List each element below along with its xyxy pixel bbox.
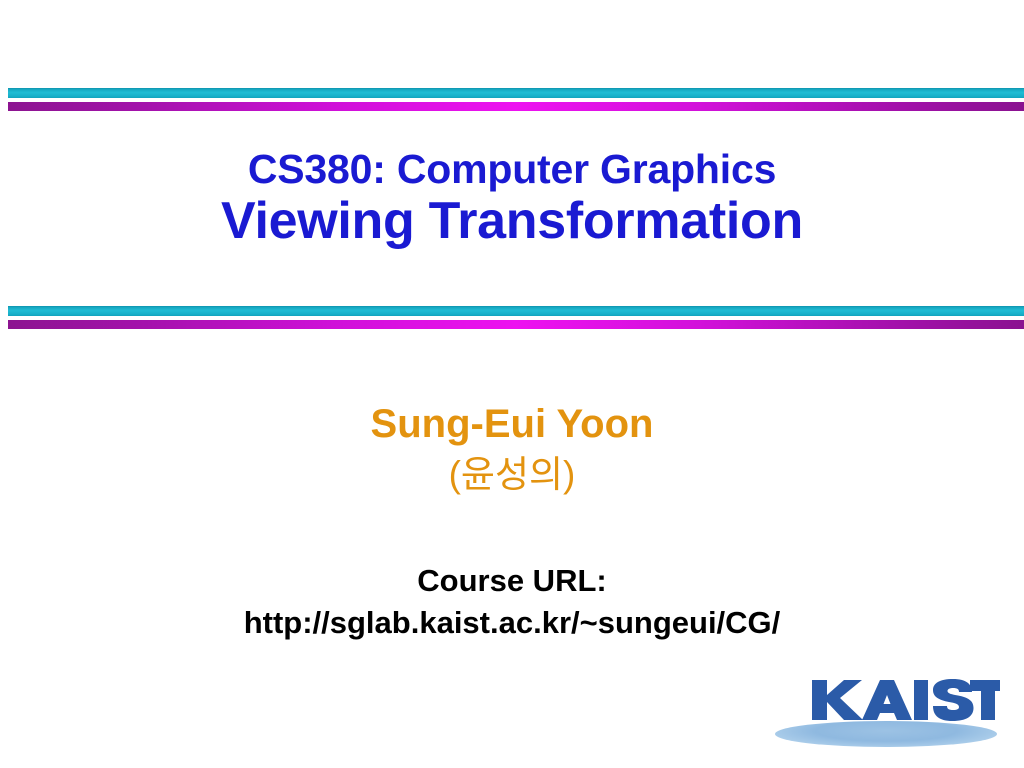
divider-middle [8,306,1024,329]
course-url-value[interactable]: http://sglab.kaist.ac.kr/~sungeui/CG/ [0,605,1024,641]
kaist-logo-ellipse [775,721,997,747]
divider-magenta-bar [8,320,1024,329]
author-block: Sung-Eui Yoon (윤성의) [0,402,1024,496]
divider-cyan-bar [8,306,1024,316]
divider-magenta-bar [8,102,1024,111]
page-title-topic: Viewing Transformation [0,193,1024,250]
page-title-course: CS380: Computer Graphics [0,148,1024,191]
author-name: Sung-Eui Yoon [0,402,1024,447]
kaist-wordmark-icon [770,668,1000,724]
course-url-block: Course URL: http://sglab.kaist.ac.kr/~su… [0,563,1024,641]
course-url-label: Course URL: [0,563,1024,599]
slide-canvas: CS380: Computer Graphics Viewing Transfo… [0,0,1024,768]
divider-cyan-bar [8,88,1024,98]
author-name-korean: (윤성의) [0,453,1024,497]
divider-top [8,88,1024,111]
title-block: CS380: Computer Graphics Viewing Transfo… [0,148,1024,251]
kaist-logo [770,668,1000,753]
